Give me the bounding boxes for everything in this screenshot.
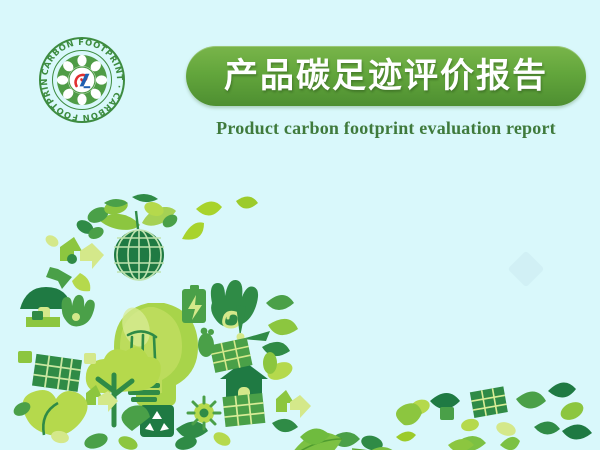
sun-icon — [188, 397, 220, 429]
hand-print-icon — [62, 295, 95, 327]
subtitle-english: Product carbon footprint evaluation repo… — [186, 118, 586, 139]
header: CARBON FOOTPRINT · CARBON FOOTPRINT · — [0, 0, 600, 160]
leaf-icon — [11, 390, 87, 436]
battery-icon — [182, 285, 206, 323]
page-title: 产品碳足迹评价报告 — [224, 59, 548, 93]
eco-collage-artwork — [0, 185, 600, 450]
cover-page: CARBON FOOTPRINT · CARBON FOOTPRINT · — [0, 0, 600, 450]
solar-panel-icon — [18, 351, 96, 392]
carbon-footprint-seal-logo: CARBON FOOTPRINT · CARBON FOOTPRINT · — [38, 36, 126, 124]
recycle-icon — [43, 225, 105, 292]
hand-print-icon — [211, 280, 258, 327]
globe-icon — [100, 207, 176, 280]
title-banner: 产品碳足迹评价报告 — [186, 46, 586, 106]
solar-panel-icon — [222, 393, 265, 427]
recycle-icon — [272, 390, 311, 432]
